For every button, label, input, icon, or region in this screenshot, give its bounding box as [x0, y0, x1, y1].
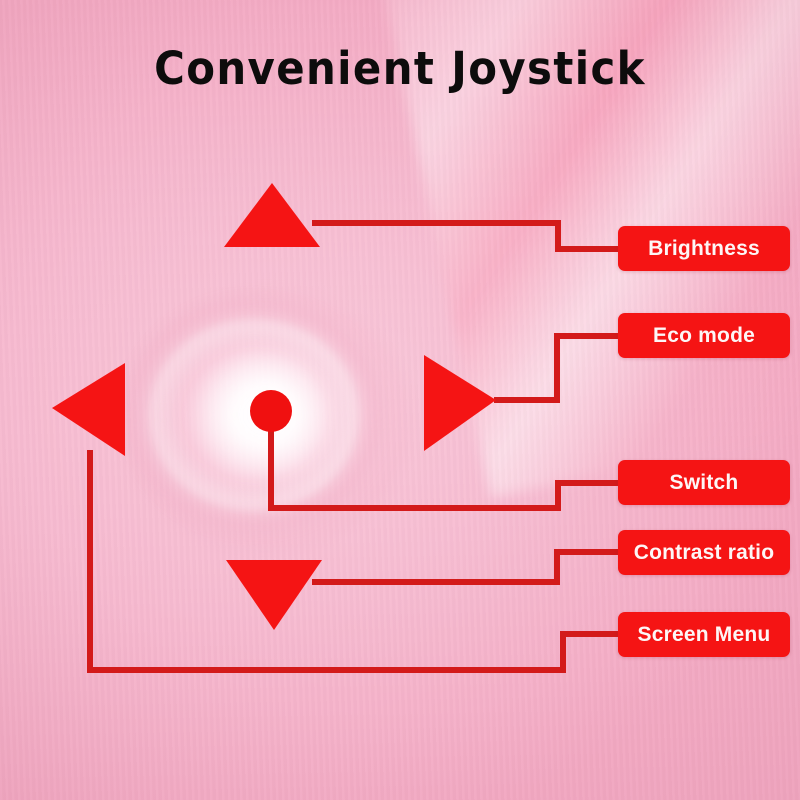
- screen-menu-connector: [90, 450, 620, 670]
- triangle-left-icon[interactable]: [52, 363, 125, 456]
- triangle-up-icon[interactable]: [224, 183, 320, 247]
- callout-eco-mode[interactable]: Eco mode: [618, 313, 790, 358]
- callout-brightness[interactable]: Brightness: [618, 226, 790, 271]
- triangle-right-icon[interactable]: [424, 355, 496, 451]
- joystick-infographic: Convenient Joystick Brightness Eco mode …: [0, 0, 800, 800]
- contrast-ratio-connector: [312, 552, 620, 582]
- callout-label: Eco mode: [653, 324, 755, 348]
- callout-label: Contrast ratio: [634, 541, 774, 565]
- callout-label: Switch: [670, 471, 739, 495]
- joystick-diagram-svg: [0, 0, 800, 800]
- callout-label: Screen Menu: [638, 623, 771, 647]
- callout-switch[interactable]: Switch: [618, 460, 790, 505]
- callout-label: Brightness: [648, 237, 760, 261]
- eco-mode-connector: [494, 336, 620, 400]
- callout-screen-menu[interactable]: Screen Menu: [618, 612, 790, 657]
- callout-contrast-ratio[interactable]: Contrast ratio: [618, 530, 790, 575]
- brightness-connector: [312, 223, 620, 249]
- joystick-center-dot[interactable]: [250, 390, 292, 432]
- triangle-down-icon[interactable]: [226, 560, 322, 630]
